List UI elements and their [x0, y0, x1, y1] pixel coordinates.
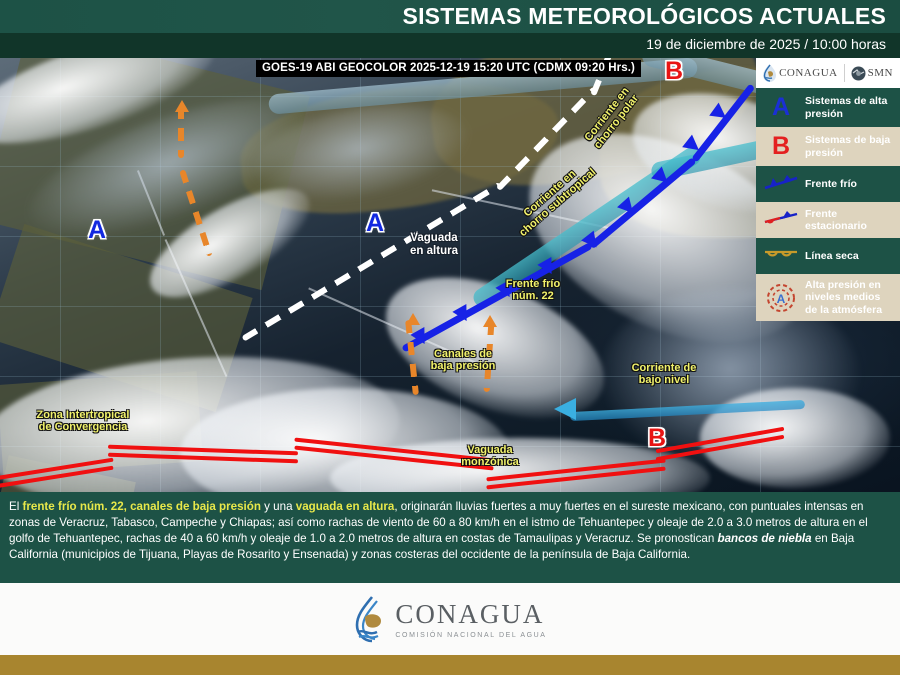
legend-item-frente-frio[interactable]: Frente frío	[756, 166, 900, 202]
label-zona-intertropical-convergencia: Zona Intertropicalde Convergencia	[22, 409, 144, 434]
conagua-droplet-icon	[763, 64, 776, 82]
forecast-summary-text: El frente frío núm. 22, canales de baja …	[0, 492, 900, 583]
svg-text:A: A	[777, 292, 786, 306]
label-vaguada-en-altura: Vaguadaen altura	[398, 232, 470, 258]
legend-item-frente-estacionario[interactable]: Frente estacionario	[756, 202, 900, 238]
low-pressure-channel-arrow-icon	[483, 315, 497, 327]
header-title-bar: SISTEMAS METEOROLÓGICOS ACTUALES	[0, 0, 900, 33]
label-corriente-de-bajo-nivel: Corriente debajo nivel	[622, 362, 706, 387]
header-date-bar: 19 de diciembre de 2025 / 10:00 horas	[0, 33, 900, 58]
dry-line-icon	[763, 248, 799, 264]
forecast-text-segment: y una	[261, 500, 296, 513]
legend-item-label: Frente estacionario	[805, 208, 895, 233]
bulletin-date: 19 de diciembre de 2025 / 10:00 horas	[646, 36, 886, 52]
forecast-text-segment: frente frío núm. 22, canales de baja pre…	[23, 500, 261, 513]
satellite-map[interactable]: GOES-19 ABI GEOCOLOR 2025-12-19 15:20 UT…	[0, 58, 900, 492]
logo-divider	[844, 64, 845, 82]
page-title: SISTEMAS METEOROLÓGICOS ACTUALES	[403, 3, 886, 30]
legend-item-alta-presion-niveles-medios[interactable]: A Alta presión en niveles medios de la a…	[756, 274, 900, 321]
letter-a-blue-icon: A	[763, 93, 799, 122]
letter-b-red-icon: B	[763, 132, 799, 161]
legend-item-alta-presion[interactable]: A Sistemas de alta presión	[756, 88, 900, 127]
legend-item-baja-presion[interactable]: B Sistemas de baja presión	[756, 127, 900, 166]
low-level-current-arrow-icon	[554, 398, 576, 420]
forecast-paragraph: El frente frío núm. 22, canales de baja …	[9, 500, 868, 561]
low-pressure-marker-b2: B	[648, 424, 666, 452]
legend-logos-bar: CONAGUA SMN	[756, 58, 900, 88]
low-pressure-marker-b1: B	[665, 58, 683, 85]
footer-accent-bar	[0, 655, 900, 675]
dry-line-arrow-icon	[175, 100, 189, 112]
high-pressure-marker-a2: A	[366, 209, 384, 237]
footer-logo-text-block: CONAGUA COMISIÓN NACIONAL DEL AGUA	[395, 599, 546, 639]
legend-item-label: Sistemas de alta presión	[805, 95, 895, 120]
stationary-front-icon	[763, 211, 799, 229]
label-canales-de-baja-presion: Canales debaja presión	[420, 348, 506, 373]
conagua-footer-logo: CONAGUA COMISIÓN NACIONAL DEL AGUA	[353, 595, 546, 643]
legend-panel: CONAGUA SMN A Sistemas de alta pres	[756, 58, 900, 321]
mid-level-high-icon: A	[763, 283, 799, 313]
footer-brand-subtitle: COMISIÓN NACIONAL DEL AGUA	[395, 632, 546, 639]
footer-brand-name: CONAGUA	[395, 599, 544, 629]
smn-logo-text: SMN	[868, 67, 893, 79]
forecast-text-segment: bancos de niebla	[718, 532, 812, 545]
legend-item-linea-seca[interactable]: Línea seca	[756, 238, 900, 274]
conagua-logo-text: CONAGUA	[779, 67, 838, 79]
footer-logo-bar: CONAGUA COMISIÓN NACIONAL DEL AGUA	[0, 583, 900, 655]
low-pressure-channel-arrow-icon	[406, 313, 420, 325]
satellite-timestamp: GOES-19 ABI GEOCOLOR 2025-12-19 15:20 UT…	[256, 60, 641, 77]
smn-emblem-icon	[851, 66, 866, 81]
weather-bulletin-page: SISTEMAS METEOROLÓGICOS ACTUALES 19 de d…	[0, 0, 900, 675]
cold-front-icon	[763, 175, 799, 193]
label-frente-frio-num-22: Frente fríonúm. 22	[494, 278, 572, 303]
smn-logo: SMN	[851, 66, 893, 81]
legend-item-label: Sistemas de baja presión	[805, 134, 895, 159]
forecast-text-segment: El	[9, 500, 23, 513]
forecast-text-segment: vaguada en altura	[296, 500, 395, 513]
legend-item-label: Frente frío	[805, 178, 857, 190]
dry-line	[178, 106, 184, 158]
legend-item-label: Línea seca	[805, 250, 859, 262]
conagua-logo: CONAGUA	[763, 64, 838, 82]
high-pressure-marker-a1: A	[88, 216, 106, 244]
label-vaguada-monzonica: Vaguadamonzónica	[452, 444, 528, 469]
conagua-droplet-icon	[353, 595, 387, 643]
legend-item-label: Alta presión en niveles medios de la atm…	[805, 279, 895, 316]
